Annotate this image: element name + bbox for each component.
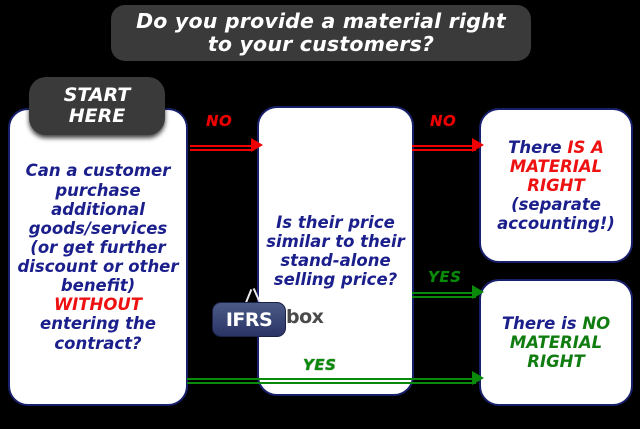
arrow-price-to-material bbox=[412, 145, 476, 151]
node-no-material-right-text: There is NO MATERIAL RIGHT bbox=[481, 314, 631, 371]
arrow-start-to-no-material-head bbox=[472, 371, 484, 385]
node-start-question: Can a customer purchase additional goods… bbox=[8, 108, 188, 406]
title-line-2: to your customers? bbox=[208, 32, 434, 56]
ifrsbox-logo: IFRS box bbox=[198, 286, 336, 338]
text-segment-0: Can a customer purchase additional goods… bbox=[17, 161, 178, 295]
ifrs-badge: IFRS bbox=[212, 302, 286, 337]
arrow-start-to-no-material bbox=[187, 378, 476, 384]
start-here-label: START HERE bbox=[64, 85, 131, 127]
arrow-start-to-price-head bbox=[251, 138, 263, 152]
page-title: Do you provide a material right to your … bbox=[126, 10, 516, 56]
node-material-right-text: There IS A MATERIAL RIGHT (separate acco… bbox=[481, 138, 631, 234]
text-segment-1: WITHOUT bbox=[54, 295, 142, 314]
ifrs-suffix-label: box bbox=[286, 306, 323, 328]
arrow-price-to-no-material bbox=[412, 292, 476, 298]
flowchart-canvas: Do you provide a material right to your … bbox=[0, 0, 640, 429]
node-price-question-text: Is their price similar to their stand-al… bbox=[259, 213, 412, 290]
title-banner: Do you provide a material right to your … bbox=[111, 5, 531, 61]
arrow-label-price-to-no-material: YES bbox=[428, 268, 461, 286]
arrow-start-to-price bbox=[190, 145, 254, 151]
text-segment-2: entering the contract? bbox=[40, 314, 156, 352]
ifrs-badge-label: IFRS bbox=[226, 309, 272, 331]
node-no-material-right: There is NO MATERIAL RIGHT bbox=[479, 279, 633, 406]
text-segment-2: (separate accounting!) bbox=[497, 195, 615, 233]
arrow-price-to-no-material-head bbox=[472, 285, 484, 299]
node-start-question-text: Can a customer purchase additional goods… bbox=[10, 161, 186, 352]
arrow-label-start-to-no-material: YES bbox=[303, 356, 336, 374]
text-segment-0: There is bbox=[502, 314, 583, 333]
start-here-line-1: START bbox=[64, 84, 131, 106]
arrow-label-price-to-material: NO bbox=[430, 112, 456, 130]
title-line-1: Do you provide a material right bbox=[136, 9, 506, 33]
text-segment-0: There bbox=[508, 138, 567, 157]
arrow-price-to-material-head bbox=[472, 138, 484, 152]
arrow-label-start-to-price: NO bbox=[206, 112, 232, 130]
start-here-line-2: HERE bbox=[69, 105, 126, 127]
start-here-badge: START HERE bbox=[29, 77, 165, 135]
text-segment-0: Is their price similar to their stand-al… bbox=[266, 213, 405, 289]
node-material-right: There IS A MATERIAL RIGHT (separate acco… bbox=[479, 108, 633, 263]
node-price-question: Is their price similar to their stand-al… bbox=[257, 106, 414, 396]
